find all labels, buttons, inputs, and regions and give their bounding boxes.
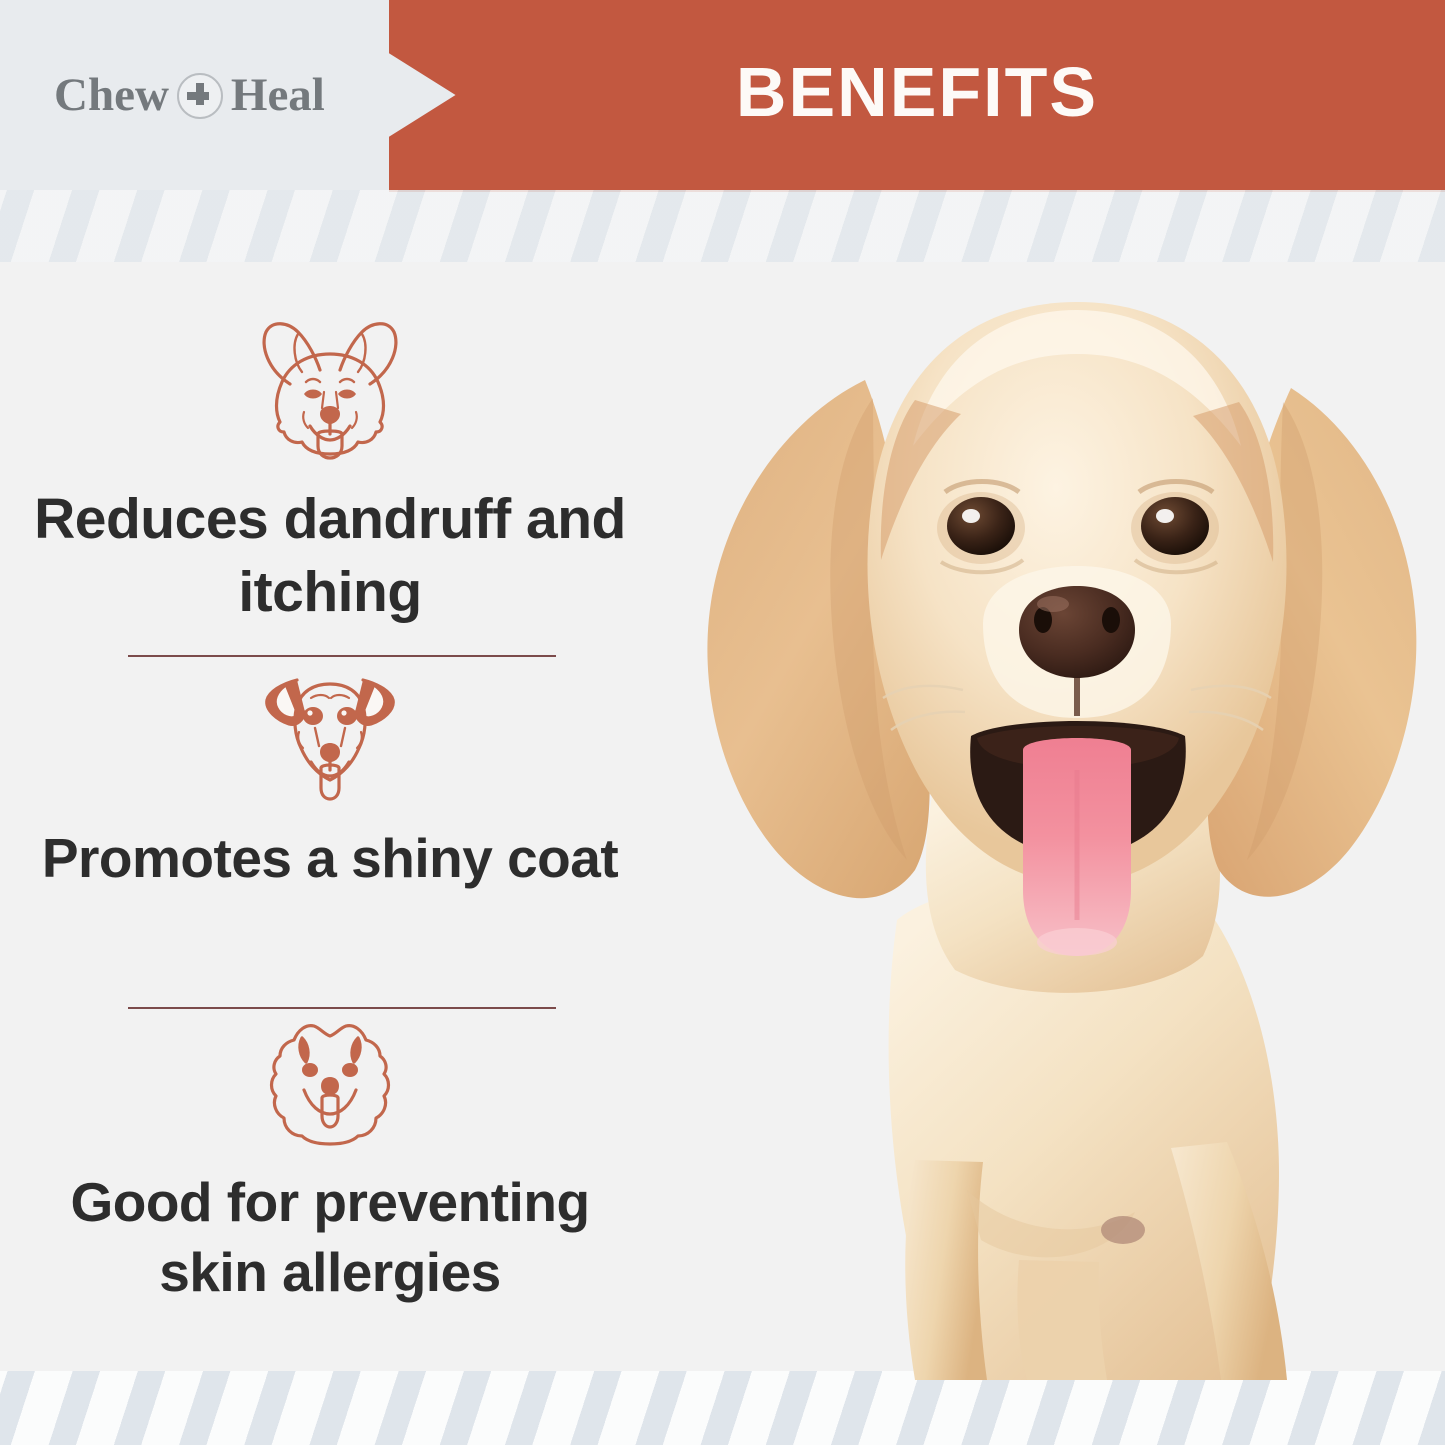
benefit-label-2: Promotes a shiny coat: [30, 823, 630, 893]
header-bar: BENEFITS Chew Heal: [0, 0, 1445, 190]
benefit-label-3: Good for preventing skin allergies: [30, 1167, 630, 1308]
brand-logo-word-left: Chew: [54, 72, 169, 119]
puppy-photo: [615, 230, 1445, 1380]
benefit-label-1: Reduces dandruff and itching: [30, 483, 630, 629]
benefits-list: Reduces dandruff and itching: [0, 262, 660, 1371]
benefit-item-3: Good for preventing skin allergies: [0, 1014, 660, 1308]
infographic-canvas: BENEFITS Chew Heal: [0, 0, 1445, 1445]
page-title: BENEFITS: [389, 0, 1445, 190]
corgi-dog-face-icon: [0, 310, 660, 467]
brand-logo-word-right: Heal: [231, 72, 325, 119]
terrier-dog-face-icon: [0, 662, 660, 807]
benefit-divider-2: [128, 1007, 556, 1009]
diagonal-stripe-band-bottom: [0, 1371, 1445, 1445]
medical-plus-icon: [177, 73, 223, 119]
benefit-item-1: Reduces dandruff and itching: [0, 310, 660, 629]
brand-logo: Chew Heal: [54, 72, 325, 119]
fluffy-dog-face-icon: [0, 1014, 660, 1151]
benefit-divider-1: [128, 655, 556, 657]
benefit-item-2: Promotes a shiny coat: [0, 662, 660, 893]
